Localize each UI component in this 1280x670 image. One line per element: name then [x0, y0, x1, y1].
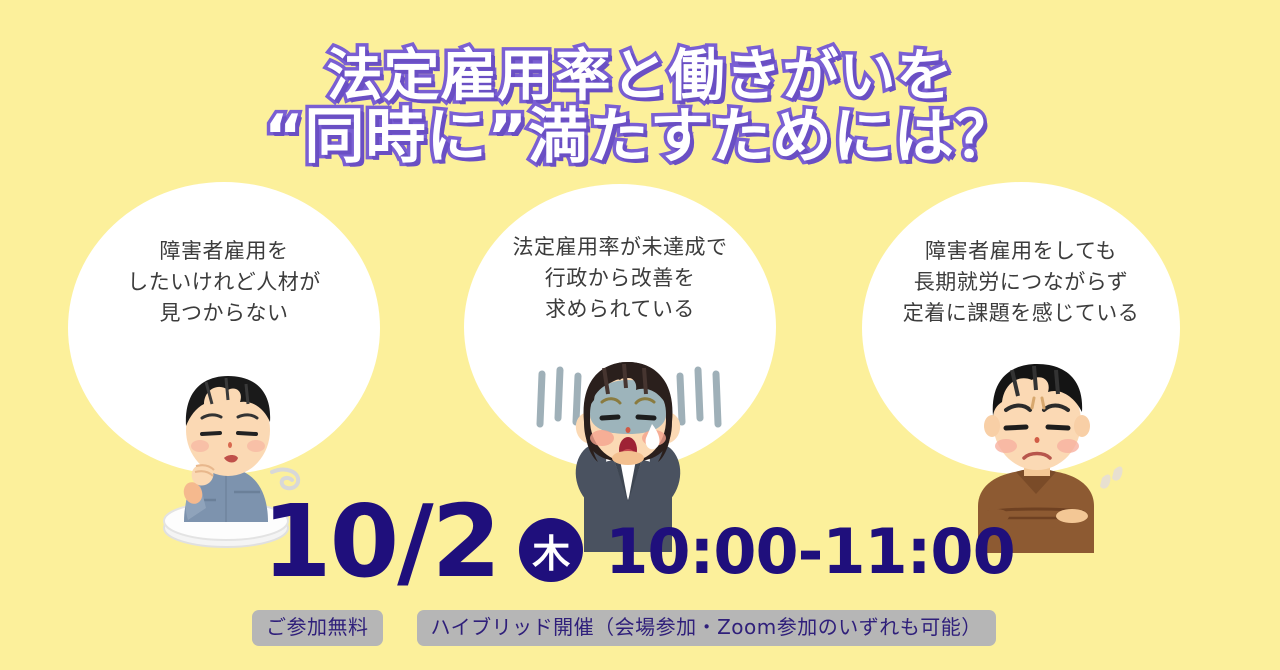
event-time-range: 10:00-11:00 [605, 515, 1014, 588]
event-weekday-badge: 木 [519, 518, 583, 582]
speech-bubble-retention-text: 障害者雇用をしても 長期就労につながらず 定着に課題を感じている [866, 236, 1176, 329]
badge-hybrid-format: ハイブリッド開催（会場参加・Zoom参加のいずれも可能） [417, 610, 996, 646]
event-date: 10/2 [262, 492, 499, 592]
banner-title-line-1: 法定雇用率と働きがいを [0, 48, 1280, 105]
banner-title-line-2: “同時に”満たすためには？ [0, 107, 1280, 168]
speech-bubble-staffing-text: 障害者雇用を したいけれど人材が 見つからない [78, 236, 370, 329]
webinar-banner: 障害者雇用を したいけれど人材が 見つからない 法定雇用率が未達成で 行政から改… [0, 0, 1280, 670]
badge-free-admission: ご参加無料 [252, 610, 383, 646]
banner-title: 法定雇用率と働きがいを “同時に”満たすためには？ [0, 48, 1280, 168]
event-info-badges: ご参加無料 ハイブリッド開催（会場参加・Zoom参加のいずれも可能） [252, 610, 996, 646]
speech-bubble-compliance-text: 法定雇用率が未達成で 行政から改善を 求められている [470, 232, 770, 325]
event-datetime: 10/2 木 10:00-11:00 [262, 496, 1062, 592]
